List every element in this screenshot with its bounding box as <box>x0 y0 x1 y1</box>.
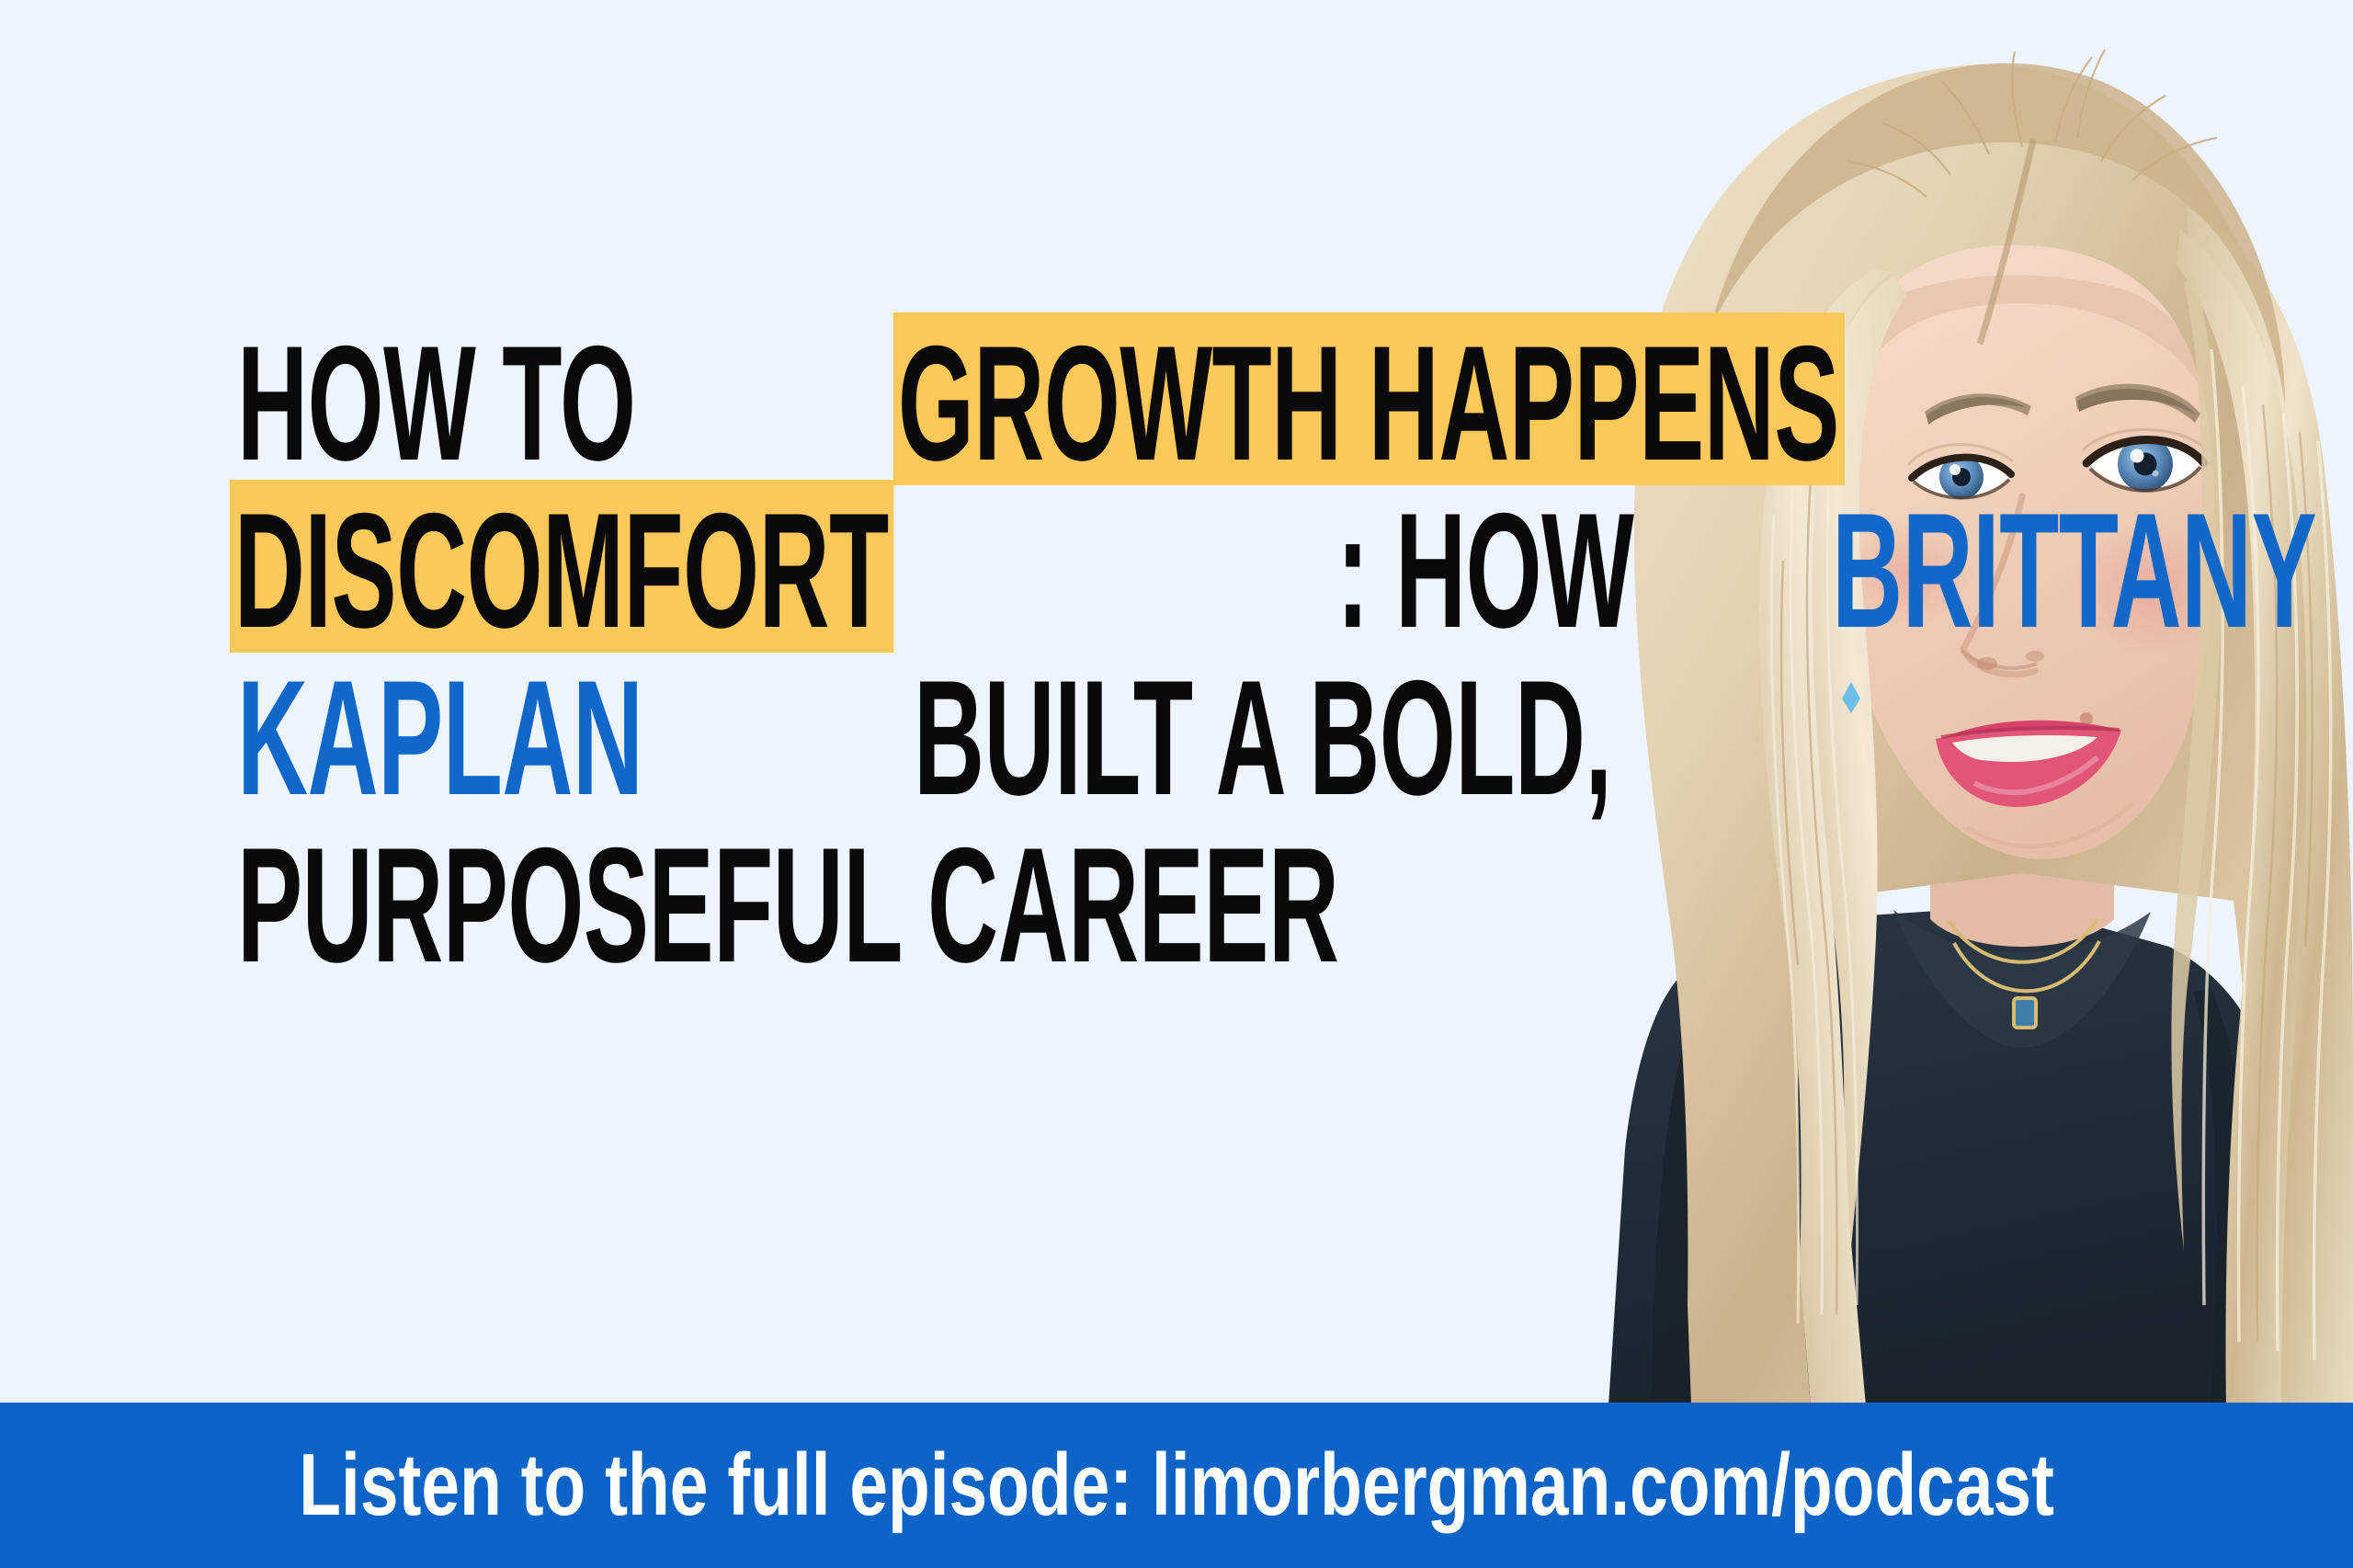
title-segment-plain: : HOW <box>1336 480 1633 653</box>
title-line-3: KAPLAN BUILT A BOLD, <box>237 647 1616 814</box>
episode-title: HOW TO GROWTH HAPPENS IN DISCOMFORT: HOW… <box>237 312 1616 982</box>
title-line-2: DISCOMFORT: HOW BRITTANY <box>237 480 1616 647</box>
title-segment-highlight: GROWTH HAPPENS <box>893 312 1845 485</box>
title-segment-accent: KAPLAN <box>237 647 642 820</box>
title-segment-highlight: DISCOMFORT <box>230 480 894 653</box>
title-segment-accent: BRITTANY <box>1832 480 2316 653</box>
podcast-episode-graphic: HOW TO GROWTH HAPPENS IN DISCOMFORT: HOW… <box>0 0 2353 1568</box>
title-segment-plain: BUILT A BOLD, <box>914 647 1611 820</box>
title-line-1: HOW TO GROWTH HAPPENS IN <box>237 312 1616 480</box>
title-segment-plain: PURPOSEFUL CAREER <box>237 814 1338 987</box>
listen-banner[interactable]: Listen to the full episode: limorbergman… <box>0 1403 2353 1568</box>
title-segment-plain: HOW TO <box>237 312 635 485</box>
banner-podcast-link[interactable]: Listen to the full episode: limorbergman… <box>299 1435 2054 1536</box>
title-line-4: PURPOSEFUL CAREER <box>237 814 1616 982</box>
